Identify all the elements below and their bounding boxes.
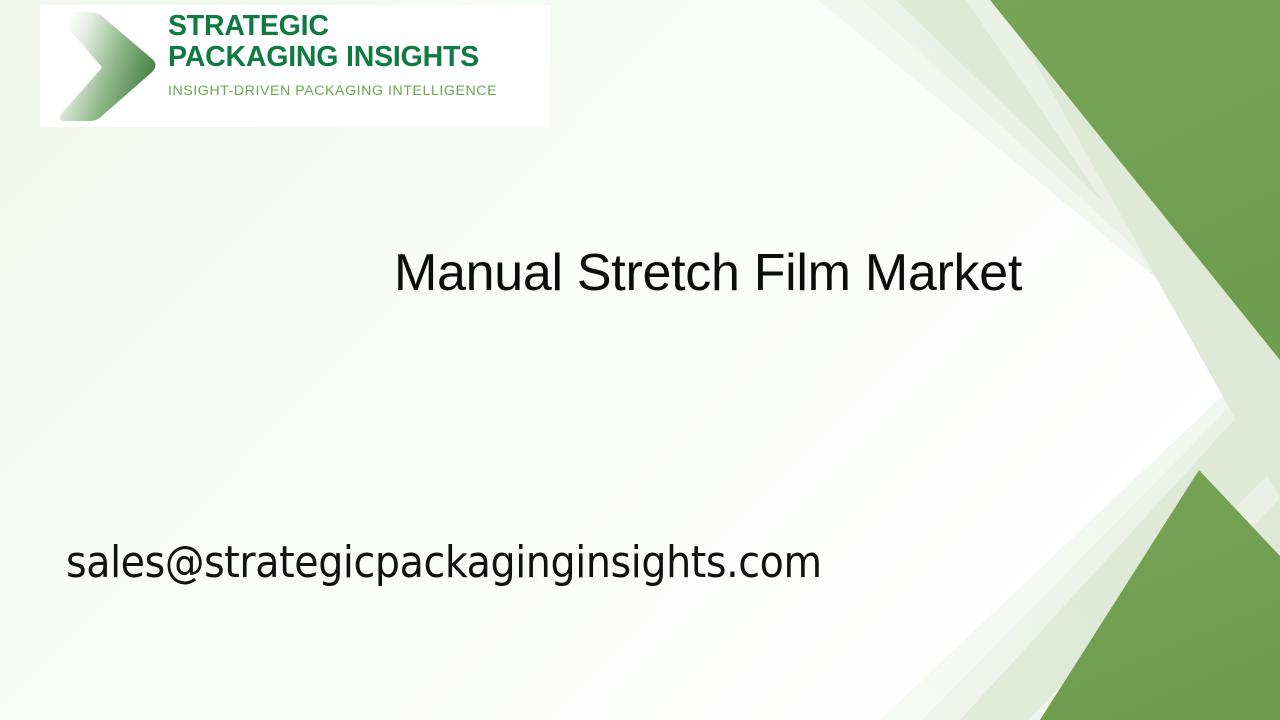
title-slide: STRATEGIC PACKAGING INSIGHTS INSIGHT-DRI… bbox=[0, 0, 1280, 720]
logo-wordmark: STRATEGIC PACKAGING INSIGHTS INSIGHT-DRI… bbox=[168, 11, 546, 99]
logo-line-1: STRATEGIC bbox=[168, 11, 546, 42]
page-title: Manual Stretch Film Market bbox=[296, 248, 1120, 299]
contact-email: sales@strategicpackaginginsights.com bbox=[66, 536, 822, 590]
logo-tagline: INSIGHT-DRIVEN PACKAGING INTELLIGENCE bbox=[168, 83, 546, 99]
company-logo: STRATEGIC PACKAGING INSIGHTS INSIGHT-DRI… bbox=[40, 5, 550, 127]
logo-line-2: PACKAGING INSIGHTS bbox=[168, 42, 546, 73]
chevron-right-icon bbox=[48, 7, 168, 125]
